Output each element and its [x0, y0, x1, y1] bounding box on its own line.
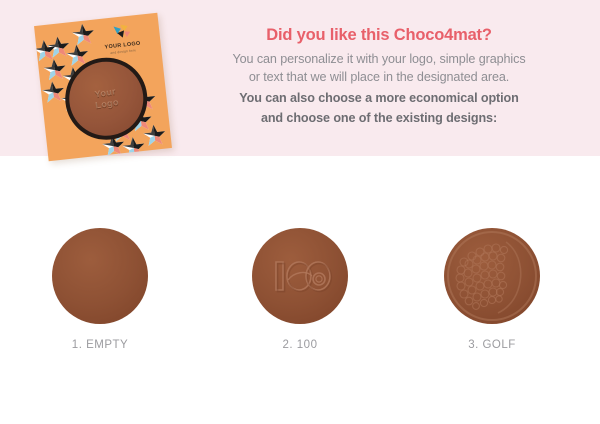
package-disc-emboss: Your Logo: [64, 56, 149, 141]
promo-line-2: or text that we will place in the design…: [196, 69, 562, 87]
page-title: Did you like this Choco4mat?: [196, 26, 562, 46]
design-option-label: 1. EMPTY: [20, 339, 180, 351]
promo-line-3: You can also choose a more economical op…: [196, 90, 562, 108]
emboss-100-icon: [252, 228, 348, 324]
brand-mark-icon: [110, 23, 133, 43]
package-disc-emboss-line2: Logo: [95, 97, 120, 112]
design-option-label: 3. GOLF: [412, 339, 572, 351]
packaging-mockup: YOUR LOGO and design here Your Logo: [33, 14, 191, 164]
package-chocolate-disc: Your Logo: [66, 58, 148, 140]
promo-page: YOUR LOGO and design here Your Logo Did …: [0, 0, 600, 424]
design-option-100[interactable]: 2. 100: [220, 228, 380, 351]
promo-line-1: You can personalize it with your logo, s…: [196, 51, 562, 69]
package-box: YOUR LOGO and design here Your Logo: [34, 13, 172, 162]
design-options: 1. EMPTY: [0, 228, 600, 368]
package-disc-ring: Your Logo: [61, 54, 151, 144]
chocolate-disc-empty[interactable]: [52, 228, 148, 324]
promo-line-4: and choose one of the existing designs:: [196, 110, 562, 128]
design-option-label: 2. 100: [220, 339, 380, 351]
chocolate-disc-golf[interactable]: [444, 228, 540, 324]
promo-copy: Did you like this Choco4mat? You can per…: [196, 26, 562, 128]
emboss-golf-icon: [444, 228, 540, 324]
design-option-empty[interactable]: 1. EMPTY: [20, 228, 180, 351]
chocolate-disc-100[interactable]: [252, 228, 348, 324]
design-option-golf[interactable]: 3. GOLF: [412, 228, 572, 351]
package-logo: YOUR LOGO and design here: [90, 21, 153, 57]
